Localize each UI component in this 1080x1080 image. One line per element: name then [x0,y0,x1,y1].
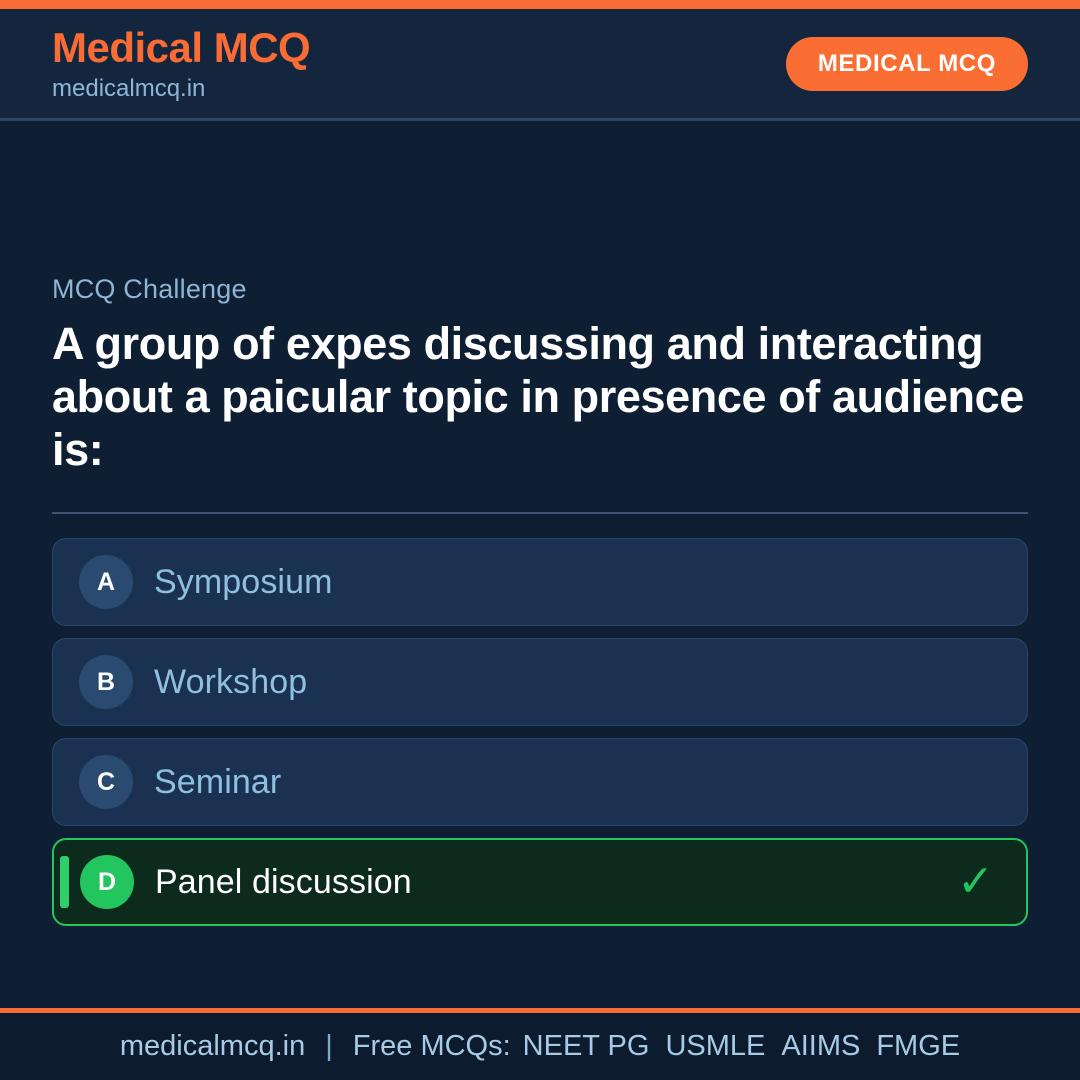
footer-exam-fmge[interactable]: FMGE [876,1030,960,1063]
challenge-label: MCQ Challenge [52,274,1028,305]
option-letter-badge: C [79,755,133,809]
option-letter-badge: A [79,555,133,609]
brand-block: Medical MCQ medicalmcq.in [52,27,310,101]
option-letter-badge: B [79,655,133,709]
footer-text: medicalmcq.in | Free MCQs: NEET PG USMLE… [120,1030,960,1063]
footer-site[interactable]: medicalmcq.in [120,1030,305,1063]
footer-separator: | [305,1030,353,1063]
mcq-card-page: Medical MCQ medicalmcq.in MEDICAL MCQ MC… [0,0,1080,1080]
brand-subtitle: medicalmcq.in [52,77,310,101]
option-b[interactable]: B Workshop [52,638,1028,726]
question-text: A group of expes discussing and interact… [52,317,1028,486]
option-letter-badge: D [80,855,134,909]
option-label: Panel discussion [155,863,412,902]
option-d[interactable]: D Panel discussion ✓ [52,838,1028,926]
brand-title: Medical MCQ [52,27,310,69]
top-accent-bar [0,0,1080,9]
main-content: MCQ Challenge A group of expes discussin… [0,121,1080,1008]
page-header: Medical MCQ medicalmcq.in MEDICAL MCQ [0,9,1080,121]
page-footer: medicalmcq.in | Free MCQs: NEET PG USMLE… [0,1008,1080,1080]
options-list: A Symposium B Workshop C Seminar D Panel… [52,538,1028,926]
option-label: Workshop [154,663,307,702]
footer-exam-usmle[interactable]: USMLE [665,1030,781,1063]
option-c[interactable]: C Seminar [52,738,1028,826]
correct-accent-bar [60,856,69,908]
option-a[interactable]: A Symposium [52,538,1028,626]
footer-label: Free MCQs: [353,1030,523,1063]
check-icon: ✓ [957,860,1000,904]
footer-exam-neet-pg[interactable]: NEET PG [523,1030,666,1063]
footer-exam-aiims[interactable]: AIIMS [781,1030,876,1063]
question-divider [52,512,1028,514]
brand-badge[interactable]: MEDICAL MCQ [786,37,1028,91]
option-label: Seminar [154,763,281,802]
option-label: Symposium [154,563,333,602]
